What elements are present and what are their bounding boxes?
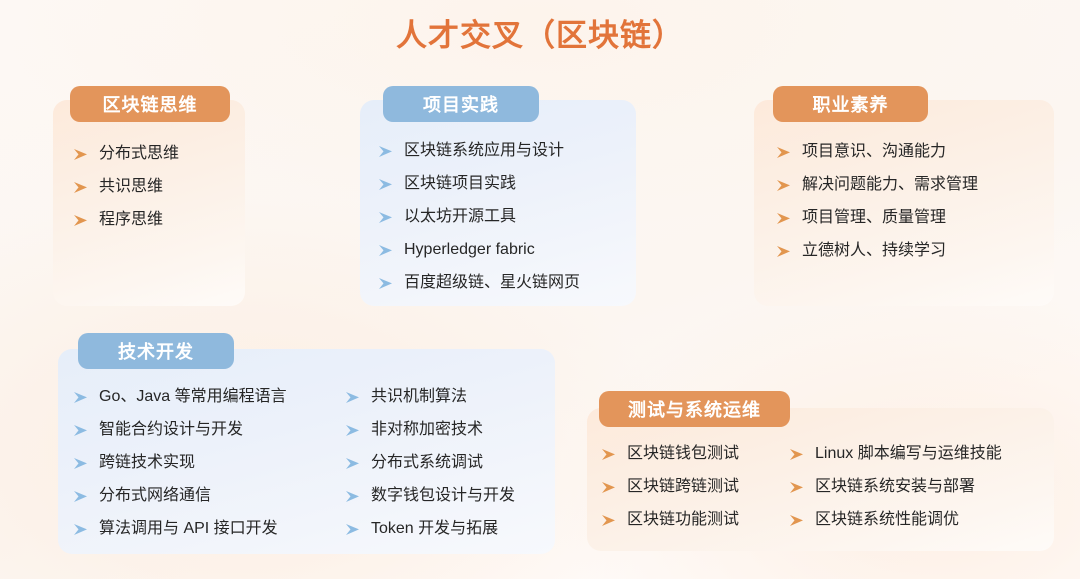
list-item-label: 以太坊开源工具 bbox=[404, 207, 516, 226]
arrow-right-icon bbox=[600, 512, 618, 530]
card-blockchain-thinking-list: 分布式思维 共识思维 程序思维 bbox=[72, 144, 179, 243]
arrow-right-icon bbox=[600, 446, 618, 464]
list-item: 区块链系统性能调优 bbox=[788, 510, 1002, 530]
card-project-practice-badge: 项目实践 bbox=[383, 86, 539, 122]
arrow-right-icon bbox=[377, 209, 395, 227]
list-item: 区块链钱包测试 bbox=[600, 444, 788, 464]
arrow-right-icon bbox=[377, 176, 395, 194]
list-item-label: 非对称加密技术 bbox=[371, 420, 483, 439]
card-technical-development-list: Go、Java 等常用编程语言 智能合约设计与开发 跨链技术实现 分布式网络通信… bbox=[72, 387, 515, 552]
list-item-label: Go、Java 等常用编程语言 bbox=[99, 387, 287, 406]
arrow-right-icon bbox=[788, 512, 806, 530]
list-item: 分布式思维 bbox=[72, 144, 179, 164]
list-item: 解决问题能力、需求管理 bbox=[775, 175, 978, 195]
list-item: 百度超级链、星火链网页 bbox=[377, 273, 580, 293]
list-item-label: 分布式思维 bbox=[99, 144, 179, 163]
list-item: 项目意识、沟通能力 bbox=[775, 142, 978, 162]
arrow-right-icon bbox=[775, 210, 793, 228]
list-item: 分布式系统调试 bbox=[344, 453, 515, 473]
list-item-label: 区块链钱包测试 bbox=[627, 444, 739, 463]
arrow-right-icon bbox=[344, 455, 362, 473]
list-item-label: 区块链系统应用与设计 bbox=[404, 141, 564, 160]
arrow-right-icon bbox=[775, 243, 793, 261]
list-item: 分布式网络通信 bbox=[72, 486, 344, 506]
list-item-label: 智能合约设计与开发 bbox=[99, 420, 243, 439]
arrow-right-icon bbox=[72, 422, 90, 440]
list-item-label: 解决问题能力、需求管理 bbox=[802, 175, 978, 194]
list-item-label: 区块链功能测试 bbox=[627, 510, 739, 529]
card-testing-and-ops-badge: 测试与系统运维 bbox=[599, 391, 790, 427]
list-item: 以太坊开源工具 bbox=[377, 207, 580, 227]
list-item: 区块链跨链测试 bbox=[600, 477, 788, 497]
arrow-right-icon bbox=[377, 143, 395, 161]
list-item: 区块链项目实践 bbox=[377, 174, 580, 194]
list-item-label: 跨链技术实现 bbox=[99, 453, 195, 472]
list-item-label: 区块链系统安装与部署 bbox=[815, 477, 975, 496]
card-project-practice-list: 区块链系统应用与设计 区块链项目实践 以太坊开源工具 Hyperledger f… bbox=[377, 141, 580, 306]
list-item: 非对称加密技术 bbox=[344, 420, 515, 440]
arrow-right-icon bbox=[600, 479, 618, 497]
testing-ops-column-right: Linux 脚本编写与运维技能 区块链系统安装与部署 区块链系统性能调优 bbox=[788, 444, 1002, 543]
list-item-label: 立德树人、持续学习 bbox=[802, 241, 946, 260]
list-item-label: 分布式网络通信 bbox=[99, 486, 211, 505]
list-item-label: 区块链项目实践 bbox=[404, 174, 516, 193]
list-item: 立德树人、持续学习 bbox=[775, 241, 978, 261]
arrow-right-icon bbox=[72, 146, 90, 164]
card-technical-development-badge: 技术开发 bbox=[78, 333, 234, 369]
list-item: 项目管理、质量管理 bbox=[775, 208, 978, 228]
list-item: 区块链系统应用与设计 bbox=[377, 141, 580, 161]
list-item-label: Token 开发与拓展 bbox=[371, 519, 498, 538]
list-item-label: 共识机制算法 bbox=[371, 387, 467, 406]
list-item-label: 区块链系统性能调优 bbox=[815, 510, 959, 529]
list-item: 算法调用与 API 接口开发 bbox=[72, 519, 344, 539]
list-item-label: 程序思维 bbox=[99, 210, 163, 229]
list-item: 共识思维 bbox=[72, 177, 179, 197]
arrow-right-icon bbox=[72, 488, 90, 506]
list-item: 区块链系统安装与部署 bbox=[788, 477, 1002, 497]
arrow-right-icon bbox=[377, 275, 395, 293]
tech-dev-column-right: 共识机制算法 非对称加密技术 分布式系统调试 数字钱包设计与开发 Token 开… bbox=[344, 387, 515, 552]
list-item-label: 项目意识、沟通能力 bbox=[802, 142, 946, 161]
arrow-right-icon bbox=[377, 242, 395, 260]
list-item: 跨链技术实现 bbox=[72, 453, 344, 473]
card-blockchain-thinking-badge: 区块链思维 bbox=[70, 86, 230, 122]
arrow-right-icon bbox=[344, 389, 362, 407]
arrow-right-icon bbox=[72, 179, 90, 197]
arrow-right-icon bbox=[72, 389, 90, 407]
list-item: Linux 脚本编写与运维技能 bbox=[788, 444, 1002, 464]
list-item-label: Hyperledger fabric bbox=[404, 240, 535, 259]
list-item: Go、Java 等常用编程语言 bbox=[72, 387, 344, 407]
list-item: 智能合约设计与开发 bbox=[72, 420, 344, 440]
list-item: Token 开发与拓展 bbox=[344, 519, 515, 539]
card-professional-quality-list: 项目意识、沟通能力 解决问题能力、需求管理 项目管理、质量管理 立德树人、持续学… bbox=[775, 142, 978, 274]
arrow-right-icon bbox=[72, 521, 90, 539]
list-item-label: Linux 脚本编写与运维技能 bbox=[815, 444, 1002, 463]
list-item: 程序思维 bbox=[72, 210, 179, 230]
list-item-label: 共识思维 bbox=[99, 177, 163, 196]
list-item: 区块链功能测试 bbox=[600, 510, 788, 530]
list-item-label: 百度超级链、星火链网页 bbox=[404, 273, 580, 292]
page-title: 人才交叉（区块链） bbox=[0, 10, 1080, 55]
arrow-right-icon bbox=[775, 144, 793, 162]
card-testing-and-ops-list: 区块链钱包测试 区块链跨链测试 区块链功能测试 Linux 脚本编写与运维技能 … bbox=[600, 444, 1002, 543]
list-item-label: 数字钱包设计与开发 bbox=[371, 486, 515, 505]
arrow-right-icon bbox=[788, 479, 806, 497]
arrow-right-icon bbox=[72, 455, 90, 473]
arrow-right-icon bbox=[344, 521, 362, 539]
list-item: Hyperledger fabric bbox=[377, 240, 580, 260]
list-item: 数字钱包设计与开发 bbox=[344, 486, 515, 506]
card-professional-quality-badge: 职业素养 bbox=[773, 86, 928, 122]
list-item-label: 区块链跨链测试 bbox=[627, 477, 739, 496]
list-item-label: 分布式系统调试 bbox=[371, 453, 483, 472]
arrow-right-icon bbox=[72, 212, 90, 230]
testing-ops-column-left: 区块链钱包测试 区块链跨链测试 区块链功能测试 bbox=[600, 444, 788, 543]
list-item: 共识机制算法 bbox=[344, 387, 515, 407]
list-item-label: 算法调用与 API 接口开发 bbox=[99, 519, 278, 538]
list-item-label: 项目管理、质量管理 bbox=[802, 208, 946, 227]
arrow-right-icon bbox=[344, 488, 362, 506]
arrow-right-icon bbox=[344, 422, 362, 440]
arrow-right-icon bbox=[775, 177, 793, 195]
tech-dev-column-left: Go、Java 等常用编程语言 智能合约设计与开发 跨链技术实现 分布式网络通信… bbox=[72, 387, 344, 552]
arrow-right-icon bbox=[788, 446, 806, 464]
